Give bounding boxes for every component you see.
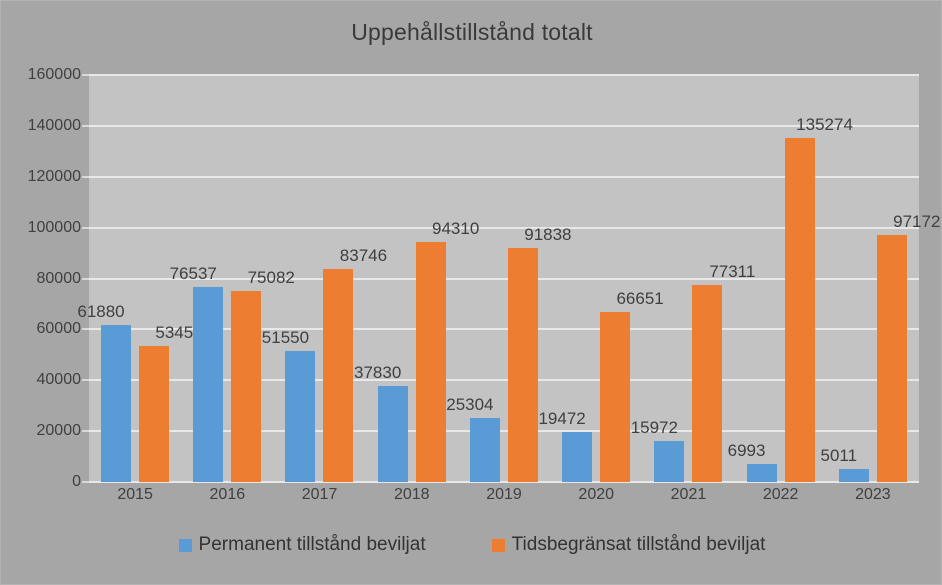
- x-axis-tick-label-2020: 2020: [550, 486, 642, 504]
- y-axis: 0200004000060000800001000001200001400001…: [1, 75, 81, 482]
- bar-value-label: 6993: [707, 441, 787, 461]
- bar-value-label: 76537: [153, 264, 233, 284]
- bar-value-label: 61880: [61, 302, 141, 322]
- bar-value-label: 51550: [245, 328, 325, 348]
- y-axis-tick-mark: [82, 176, 89, 178]
- y-axis-tick-label: 60000: [1, 320, 81, 338]
- bar-permanent-2018[interactable]: [378, 386, 408, 482]
- y-axis-tick-label: 140000: [1, 117, 81, 135]
- bar-permanent-2019[interactable]: [470, 418, 500, 482]
- y-axis-tick-label: 40000: [1, 371, 81, 389]
- bar-temporary-2019[interactable]: [508, 248, 538, 482]
- bar-value-label: 5011: [799, 446, 879, 466]
- y-axis-tick-mark: [82, 125, 89, 127]
- bar-value-label: 19472: [522, 409, 602, 429]
- chart-legend: Permanent tillstånd beviljatTidsbegränsa…: [1, 534, 942, 556]
- bar-group: 501197172: [827, 75, 919, 482]
- y-axis-tick-label: 0: [1, 473, 81, 491]
- bar-permanent-2016[interactable]: [193, 287, 223, 482]
- x-axis: 201520162017201820192020202120222023: [89, 486, 919, 514]
- x-axis-tick-label-2015: 2015: [89, 486, 181, 504]
- y-axis-tick-label: 20000: [1, 422, 81, 440]
- bar-group: 7653775082: [181, 75, 273, 482]
- y-axis-tick-label: 120000: [1, 168, 81, 186]
- y-axis-tick-mark: [82, 74, 89, 76]
- chart-container: Uppehållstillstånd totalt 02000040000600…: [0, 0, 942, 585]
- bar-temporary-2016[interactable]: [231, 291, 261, 482]
- bar-temporary-2015[interactable]: [139, 346, 169, 482]
- bar-permanent-2020[interactable]: [562, 432, 592, 482]
- y-axis-tick-mark: [82, 430, 89, 432]
- bar-value-label: 25304: [430, 395, 510, 415]
- x-axis-tick-label-2022: 2022: [735, 486, 827, 504]
- x-axis-tick-label-2023: 2023: [827, 486, 919, 504]
- y-axis-tick-mark: [82, 481, 89, 483]
- y-axis-tick-label: 160000: [1, 66, 81, 84]
- bar-permanent-2022[interactable]: [747, 464, 777, 482]
- x-axis-tick-label-2018: 2018: [366, 486, 458, 504]
- bar-value-label: 97172: [877, 212, 942, 232]
- y-axis-tick-mark: [82, 328, 89, 330]
- bar-temporary-2023[interactable]: [877, 235, 907, 482]
- bar-permanent-2015[interactable]: [101, 325, 131, 482]
- legend-entry-temporary[interactable]: Tidsbegränsat tillstånd beviljat: [492, 534, 766, 556]
- bar-temporary-2018[interactable]: [416, 242, 446, 482]
- legend-label: Tidsbegränsat tillstånd beviljat: [512, 534, 766, 556]
- y-axis-tick-label: 80000: [1, 270, 81, 288]
- x-axis-tick-label-2017: 2017: [273, 486, 365, 504]
- bar-group: 5155083746: [273, 75, 365, 482]
- y-axis-tick-mark: [82, 278, 89, 280]
- bar-group: 6993135274: [735, 75, 827, 482]
- bar-permanent-2021[interactable]: [654, 441, 684, 482]
- bar-permanent-2017[interactable]: [285, 351, 315, 482]
- bar-permanent-2023[interactable]: [839, 469, 869, 482]
- plot-area: 6188053458765377508251550837463783094310…: [89, 75, 919, 482]
- bar-temporary-2020[interactable]: [600, 312, 630, 482]
- bar-group: 1597277311: [642, 75, 734, 482]
- legend-swatch-icon: [179, 539, 192, 552]
- bar-temporary-2022[interactable]: [785, 138, 815, 482]
- x-axis-tick-label-2016: 2016: [181, 486, 273, 504]
- x-axis-tick-label-2019: 2019: [458, 486, 550, 504]
- y-axis-tick-mark: [82, 227, 89, 229]
- bar-value-label: 15972: [614, 418, 694, 438]
- x-axis-tick-label-2021: 2021: [642, 486, 734, 504]
- bar-value-label: 37830: [338, 363, 418, 383]
- y-axis-tick-label: 100000: [1, 219, 81, 237]
- chart-title: Uppehållstillstånd totalt: [1, 19, 942, 46]
- bar-group: 3783094310: [366, 75, 458, 482]
- legend-label: Permanent tillstånd beviljat: [199, 534, 426, 556]
- legend-swatch-icon: [492, 539, 505, 552]
- legend-entry-permanent[interactable]: Permanent tillstånd beviljat: [179, 534, 426, 556]
- y-axis-tick-mark: [82, 379, 89, 381]
